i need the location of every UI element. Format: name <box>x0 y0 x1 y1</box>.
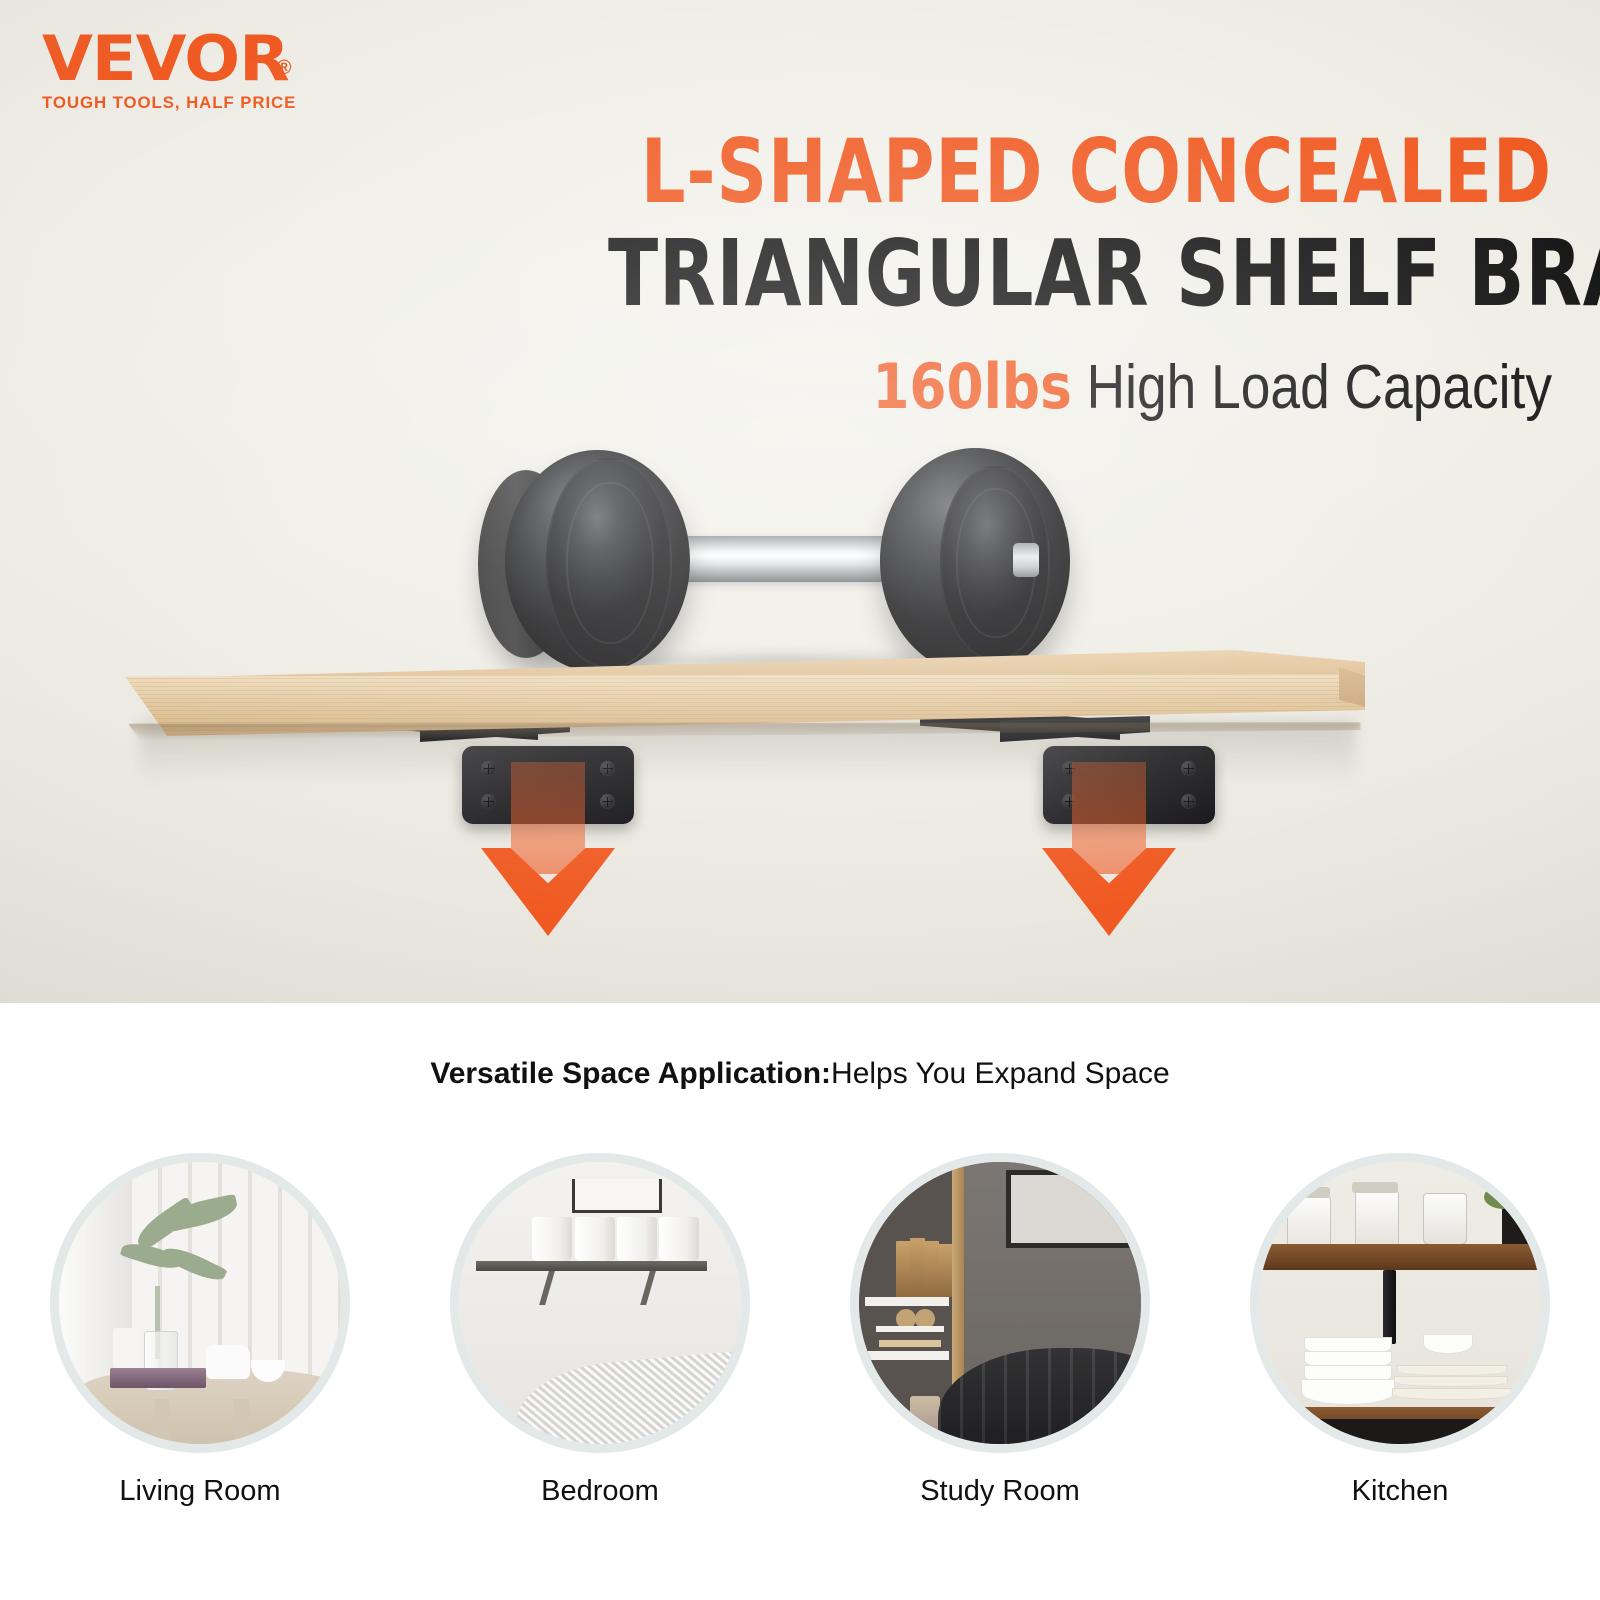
application-card-label: Bedroom <box>541 1475 659 1508</box>
jar-lid <box>1352 1182 1398 1193</box>
screw-icon <box>600 794 615 809</box>
knit-blanket <box>512 1348 750 1453</box>
capacity-value: 160lbs <box>872 350 1071 423</box>
kitchen-shelf-upper <box>1250 1244 1550 1270</box>
plant <box>1484 1185 1524 1209</box>
jar-lid <box>1284 1187 1330 1198</box>
cabinet-base <box>1259 1419 1541 1444</box>
book <box>896 1241 911 1297</box>
brand-wordmark: VEVOR® <box>42 30 291 89</box>
bedroom-scene <box>459 1162 741 1444</box>
screw-icon <box>1181 761 1196 776</box>
kitchen-photo <box>1250 1153 1550 1453</box>
teapot <box>206 1345 250 1379</box>
bedroom-photo <box>450 1153 750 1453</box>
screw-icon <box>481 761 496 776</box>
dumbbell-bar-end-cap <box>1013 543 1039 577</box>
framed-art <box>1006 1170 1150 1248</box>
hero-product-panel: VEVOR® TOUGH TOOLS, HALF PRICE L-SHAPED … <box>0 0 1600 1003</box>
dumbbell-plate-left-ring <box>566 482 654 644</box>
application-card-list: Living Room Bedroom <box>0 1153 1600 1573</box>
bowl <box>1423 1334 1473 1354</box>
shelf-board <box>120 650 1365 745</box>
application-section: Versatile Space Application:Helps You Ex… <box>0 1003 1600 1600</box>
screw-icon <box>1181 794 1196 809</box>
bookcase-shelf <box>865 1351 950 1360</box>
book <box>938 1244 953 1298</box>
application-card-living-room[interactable]: Living Room <box>0 1153 400 1573</box>
plate <box>1394 1376 1508 1387</box>
book <box>110 1368 206 1388</box>
brand-name: VEVOR <box>42 30 289 89</box>
shelf-bracket <box>640 1271 656 1305</box>
bowl <box>1301 1379 1395 1405</box>
plate <box>1397 1365 1507 1376</box>
study-room-photo <box>850 1153 1150 1453</box>
screw-icon <box>600 761 615 776</box>
table-leg <box>155 1399 170 1444</box>
table-leg <box>234 1399 249 1444</box>
mug <box>617 1217 657 1261</box>
shelf-bracket <box>1383 1270 1396 1344</box>
picture-frame <box>572 1179 663 1213</box>
headline-line-1: L-SHAPED CONCEALED <box>608 128 1552 216</box>
application-title-regular: Helps You Expand Space <box>831 1057 1170 1090</box>
application-card-bedroom[interactable]: Bedroom <box>400 1153 800 1573</box>
glass-jar <box>1423 1193 1467 1245</box>
study-room-scene <box>859 1162 1141 1444</box>
candle <box>113 1328 139 1368</box>
application-card-label: Living Room <box>119 1475 280 1508</box>
headline-block: L-SHAPED CONCEALED TRIANGULAR SHELF BRAC… <box>372 128 1552 423</box>
plate <box>1392 1388 1512 1400</box>
wall-shelf <box>476 1261 707 1271</box>
brand-logo: VEVOR® TOUGH TOOLS, HALF PRICE <box>42 30 291 113</box>
book-stack <box>876 1326 944 1332</box>
book <box>910 1238 925 1297</box>
application-card-kitchen[interactable]: Kitchen <box>1200 1153 1600 1573</box>
living-room-photo <box>50 1153 350 1453</box>
book-stack <box>879 1340 941 1347</box>
load-arrow-left-tail <box>511 762 585 874</box>
application-title-bold: Versatile Space Application: <box>430 1057 831 1090</box>
brand-tagline: TOUGH TOOLS, HALF PRICE <box>42 94 296 113</box>
application-card-study-room[interactable]: Study Room <box>800 1153 1200 1573</box>
screw-icon <box>481 794 496 809</box>
mug <box>532 1217 572 1261</box>
headline-line-2: TRIANGULAR SHELF BRACKET <box>608 228 1552 320</box>
shelf-board-underside <box>128 722 1361 740</box>
shelf-bracket <box>539 1271 555 1305</box>
bookcase-shelf <box>865 1297 950 1306</box>
capacity-subheading: 160lbs High Load Capacity <box>537 350 1552 423</box>
jar <box>910 1396 940 1438</box>
mug <box>575 1217 615 1261</box>
application-card-label: Study Room <box>920 1475 1080 1508</box>
application-card-label: Kitchen <box>1352 1475 1449 1508</box>
capacity-label: High Load Capacity <box>1072 353 1552 422</box>
kitchen-scene <box>1259 1162 1541 1444</box>
load-arrow-right-tail <box>1072 762 1146 874</box>
mug <box>659 1217 699 1261</box>
living-room-scene <box>59 1162 341 1444</box>
book <box>924 1241 939 1297</box>
application-title: Versatile Space Application:Helps You Ex… <box>0 1057 1600 1091</box>
glass-jar <box>1355 1190 1399 1248</box>
